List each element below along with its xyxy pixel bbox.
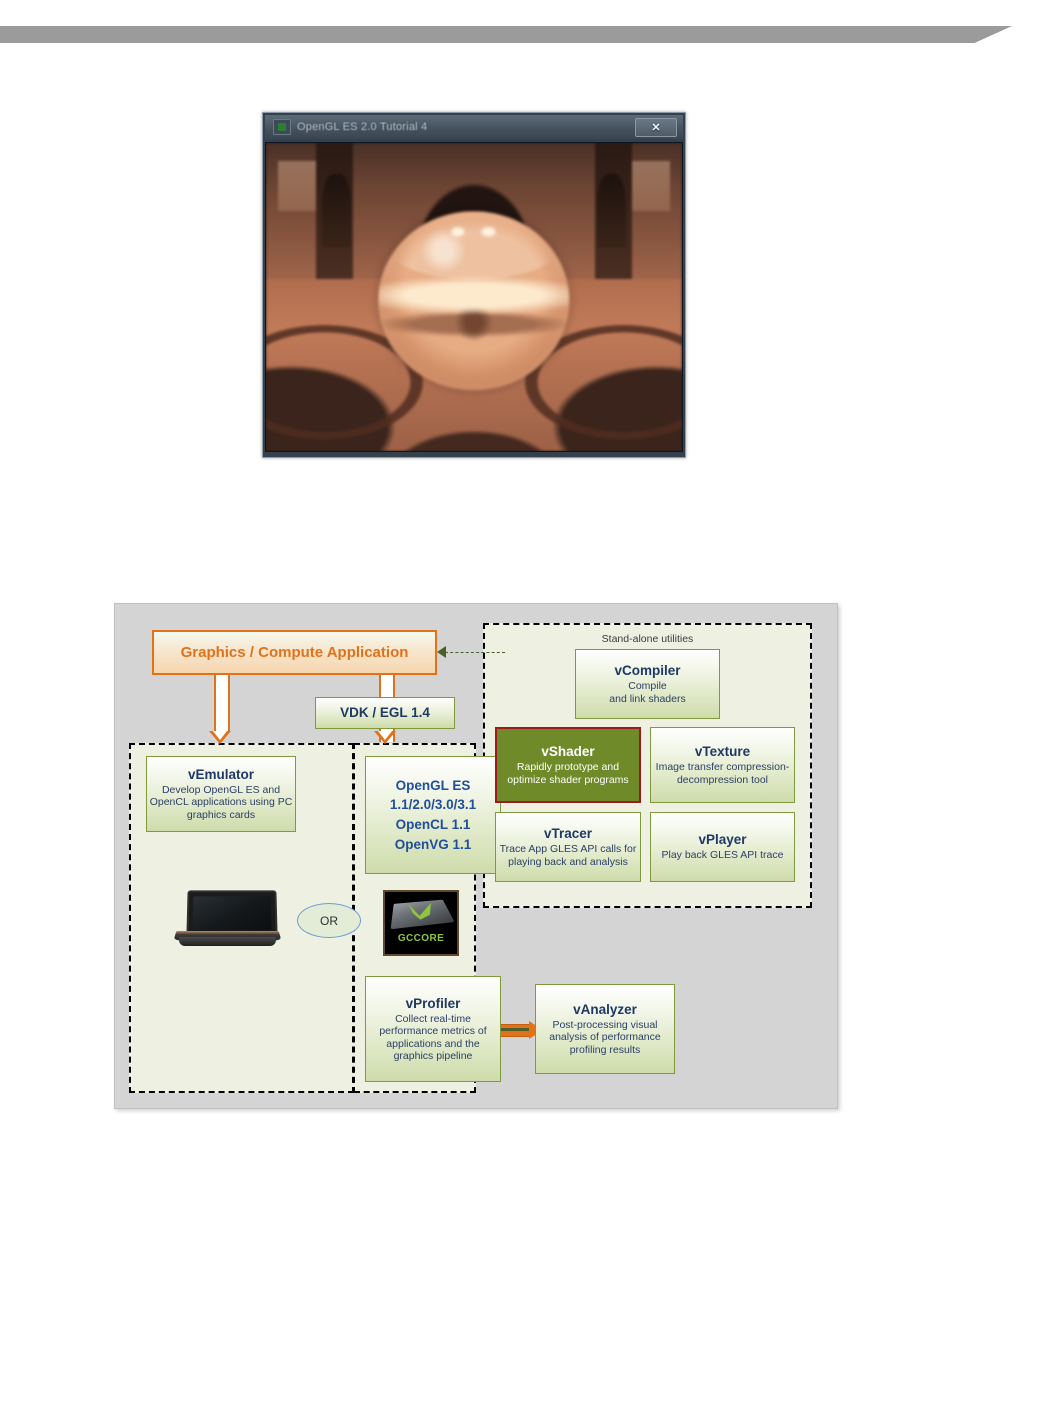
vtexture-desc: Image transfer compression-decompression… (651, 761, 794, 785)
vshader-title: vShader (541, 744, 594, 759)
api-line-1: OpenGL ES (396, 776, 471, 796)
vdk-to-driver-arrowhead-inner (378, 731, 392, 740)
architecture-diagram: Stand-alone utilities Graphics / Compute… (114, 603, 838, 1109)
graphics-compute-application-box[interactable]: Graphics / Compute Application (152, 630, 437, 675)
graphics-compute-application-label: Graphics / Compute Application (181, 644, 409, 661)
application-icon (273, 119, 291, 135)
header-banner-bar (0, 26, 1012, 43)
vemulator-desc: Develop OpenGL ES and OpenCL application… (147, 784, 295, 820)
close-icon[interactable]: ✕ (635, 118, 677, 137)
vdk-egl-label: VDK / EGL 1.4 (340, 705, 430, 720)
api-line-4: OpenVG 1.1 (395, 835, 472, 855)
laptop-body (179, 937, 276, 946)
app-window: OpenGL ES 2.0 Tutorial 4 ✕ (262, 112, 686, 458)
vprofiler-desc: Collect real-time performance metrics of… (366, 1013, 500, 1061)
scene-niche-right (597, 174, 626, 248)
vtracer-title: vTracer (544, 826, 592, 841)
vtexture-box[interactable]: vTexture Image transfer compression-deco… (650, 727, 795, 803)
header-banner (0, 26, 1012, 43)
vcompiler-desc: Compile and link shaders (609, 680, 685, 704)
sphere-highlight-left (451, 227, 464, 236)
render-viewport (265, 142, 683, 452)
gccore-label: GCCORE (398, 933, 444, 944)
vplayer-desc: Play back GLES API trace (662, 849, 784, 861)
or-label: OR (297, 903, 361, 938)
vshader-box[interactable]: vShader Rapidly prototype and optimize s… (495, 727, 641, 803)
scene-niche-left (322, 174, 351, 248)
gccore-check-icon (407, 902, 440, 922)
standalone-utilities-label: Stand-alone utilities (485, 633, 810, 645)
vcompiler-box[interactable]: vCompiler Compile and link shaders (575, 649, 720, 719)
api-line-3: OpenCL 1.1 (396, 815, 471, 835)
gccore-logo: GCCORE (383, 890, 459, 956)
vplayer-box[interactable]: vPlayer Play back GLES API trace (650, 812, 795, 882)
vanalyzer-title: vAnalyzer (573, 1002, 637, 1017)
laptop-screen (186, 890, 277, 936)
window-title: OpenGL ES 2.0 Tutorial 4 (297, 121, 427, 133)
app-to-emulator-arrowhead-inner (213, 731, 227, 740)
vprofiler-title: vProfiler (406, 996, 461, 1011)
vtracer-box[interactable]: vTracer Trace App GLES API calls for pla… (495, 812, 641, 882)
vtracer-desc: Trace App GLES API calls for playing bac… (496, 843, 640, 867)
vshader-desc: Rapidly prototype and optimize shader pr… (497, 761, 639, 785)
vemulator-box[interactable]: vEmulator Develop OpenGL ES and OpenCL a… (146, 756, 296, 832)
vanalyzer-box[interactable]: vAnalyzer Post-processing visual analysi… (535, 984, 675, 1074)
api-line-2: 1.1/2.0/3.0/3.1 (390, 795, 476, 815)
sphere-highlight-right (482, 227, 495, 236)
rendered-scene (266, 143, 682, 451)
gccore-plate (391, 900, 455, 930)
vplayer-title: vPlayer (698, 832, 746, 847)
utilities-to-application-connector (445, 652, 505, 653)
vtexture-title: vTexture (695, 744, 750, 759)
utilities-to-application-arrowhead (437, 646, 446, 658)
vanalyzer-desc: Post-processing visual analysis of perfo… (536, 1019, 674, 1055)
app-to-vdk-shaft (379, 675, 395, 697)
app-to-emulator-shaft (214, 675, 230, 731)
window-title-bar[interactable]: OpenGL ES 2.0 Tutorial 4 ✕ (265, 115, 683, 139)
vcompiler-title: vCompiler (614, 663, 680, 678)
laptop-icon (175, 890, 280, 952)
glass-sphere (378, 211, 569, 390)
vprofiler-box[interactable]: vProfiler Collect real-time performance … (365, 976, 501, 1082)
vdk-egl-box[interactable]: VDK / EGL 1.4 (315, 697, 455, 729)
api-stack-box[interactable]: OpenGL ES 1.1/2.0/3.0/3.1 OpenCL 1.1 Ope… (365, 756, 501, 874)
vemulator-title: vEmulator (188, 767, 254, 782)
